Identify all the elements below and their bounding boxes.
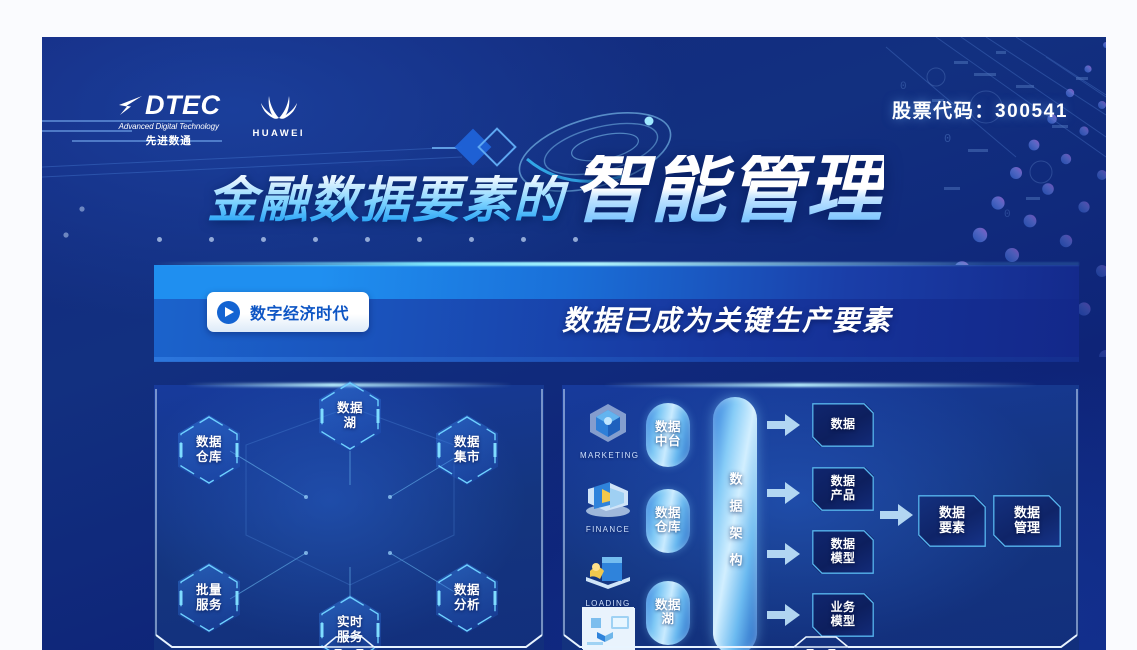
data-terminal-thumbnail-icon — [583, 608, 635, 650]
huawei-flower-icon — [256, 92, 302, 120]
play-icon — [217, 301, 240, 324]
layer-pill-2[interactable]: 数据 仓库 — [646, 489, 690, 553]
output-box-4[interactable]: 业务 模型 — [812, 593, 874, 637]
output-box-4-line2: 模型 — [831, 614, 856, 628]
hex-node-5-line2: 服务 — [337, 630, 363, 644]
hex-node-1[interactable]: 数据 仓库 — [178, 415, 240, 485]
arrow-right-icon-2 — [767, 481, 801, 505]
output-box-3[interactable]: 数据 模型 — [812, 530, 874, 574]
final-box-1-line1: 数据 — [939, 505, 965, 520]
hex-node-2-line2: 湖 — [343, 416, 356, 430]
huawei-logo: HUAWEI — [253, 92, 305, 139]
hex-node-3[interactable]: 数据 集市 — [436, 415, 498, 485]
section-tag-label: 数字经济时代 — [250, 300, 349, 324]
banner-headline: 数据已成为关键生产要素 — [562, 299, 892, 339]
slide-canvas: 0 0 0 — [42, 37, 1106, 650]
panel-data-architecture-flow: MARKETING FINANCE LOADING — [562, 385, 1079, 650]
hex-node-4-line2: 服务 — [196, 598, 222, 612]
arrow-right-icon-3 — [767, 542, 801, 566]
output-box-2-line2: 产品 — [831, 488, 856, 502]
dtec-chinese-name: 先进数通 — [117, 133, 221, 148]
arrow-right-icon-1 — [767, 413, 801, 437]
layer-pill-1[interactable]: 数据 中台 — [646, 403, 690, 467]
output-box-2[interactable]: 数据 产品 — [812, 467, 874, 511]
dtec-wordmark: DTEC — [145, 92, 221, 119]
panel-right-top-glow — [603, 383, 1037, 387]
final-box-1-line2: 要素 — [939, 520, 965, 535]
layer-pill-2-line2: 仓库 — [655, 520, 681, 534]
hex-node-2[interactable]: 数据 湖 — [319, 381, 381, 451]
page-title: 金融数据要素的 智能管理 — [207, 155, 884, 225]
architecture-column-label: 数据架构 — [726, 472, 745, 580]
output-box-1-line1: 数据 — [831, 417, 856, 431]
title-emphasis: 智能管理 — [572, 155, 884, 225]
final-box-2-line1: 数据 — [1014, 505, 1040, 520]
source-terminal-thumbnail[interactable] — [582, 607, 634, 649]
output-box-4-line1: 业务 — [831, 600, 856, 614]
hex-node-5[interactable]: 实时 服务 — [319, 595, 381, 650]
svg-text:0: 0 — [900, 81, 907, 93]
dot-row-decoration — [157, 237, 587, 245]
svg-text:0: 0 — [944, 132, 951, 146]
source-marketing-caption: MARKETING — [580, 451, 636, 460]
hex-node-4-line1: 批量 — [196, 583, 222, 597]
marketing-cube-icon — [580, 401, 636, 445]
final-box-data-element[interactable]: 数据 要素 — [918, 495, 986, 547]
arrow-right-icon-4 — [767, 603, 801, 627]
hex-node-3-line1: 数据 — [454, 435, 480, 449]
output-box-1[interactable]: 数据 — [812, 403, 874, 447]
output-box-3-line2: 模型 — [831, 551, 856, 565]
logo-group: DTEC Advanced Digital Technology 先进数通 HU… — [117, 92, 305, 148]
layer-pill-3-line2: 湖 — [661, 612, 674, 626]
title-subject: 金融数据要素的 — [207, 175, 572, 225]
arrow-right-icon-converge — [880, 503, 914, 527]
hex-node-4[interactable]: 批量 服务 — [178, 563, 240, 633]
huawei-wordmark: HUAWEI — [253, 128, 305, 139]
layer-pill-2-line1: 数据 — [655, 506, 681, 520]
output-box-2-line1: 数据 — [831, 474, 856, 488]
source-finance[interactable]: FINANCE — [580, 475, 636, 534]
source-loading[interactable]: LOADING — [580, 549, 636, 608]
loading-box-icon — [580, 549, 636, 593]
hex-node-6[interactable]: 数据 分析 — [436, 563, 498, 633]
architecture-column[interactable]: 数据架构 — [713, 397, 757, 650]
layer-pill-1-line1: 数据 — [655, 420, 681, 434]
layer-pill-3-line1: 数据 — [655, 598, 681, 612]
hex-node-1-line2: 仓库 — [196, 450, 222, 464]
hex-node-5-line1: 实时 — [337, 615, 363, 629]
hex-node-6-line1: 数据 — [454, 583, 480, 597]
hex-node-6-line2: 分析 — [454, 598, 480, 612]
panel-data-analysis-hub: 数据 仓库 数据 湖 数据 集市 — [154, 385, 544, 650]
layer-pill-3[interactable]: 数据 湖 — [646, 581, 690, 645]
banner-bottom-stripe — [154, 357, 1079, 362]
finance-folder-icon — [580, 475, 636, 519]
source-finance-caption: FINANCE — [580, 525, 636, 534]
dtec-logo: DTEC Advanced Digital Technology 先进数通 — [117, 92, 221, 148]
hex-node-3-line2: 集市 — [454, 450, 480, 464]
stock-code-label: 股票代码：300541 — [892, 96, 1068, 123]
dtec-mark-icon — [117, 93, 143, 119]
section-tag[interactable]: 数字经济时代 — [207, 292, 369, 332]
final-box-2-line2: 管理 — [1014, 520, 1040, 535]
svg-text:0: 0 — [1004, 209, 1011, 221]
source-marketing[interactable]: MARKETING — [580, 401, 636, 460]
layer-pill-1-line2: 中台 — [655, 434, 681, 448]
dtec-tagline: Advanced Digital Technology — [117, 122, 221, 131]
output-box-3-line1: 数据 — [831, 537, 856, 551]
hex-node-2-line1: 数据 — [337, 401, 363, 415]
final-box-data-management[interactable]: 数据 管理 — [993, 495, 1061, 547]
hex-node-1-line1: 数据 — [196, 435, 222, 449]
